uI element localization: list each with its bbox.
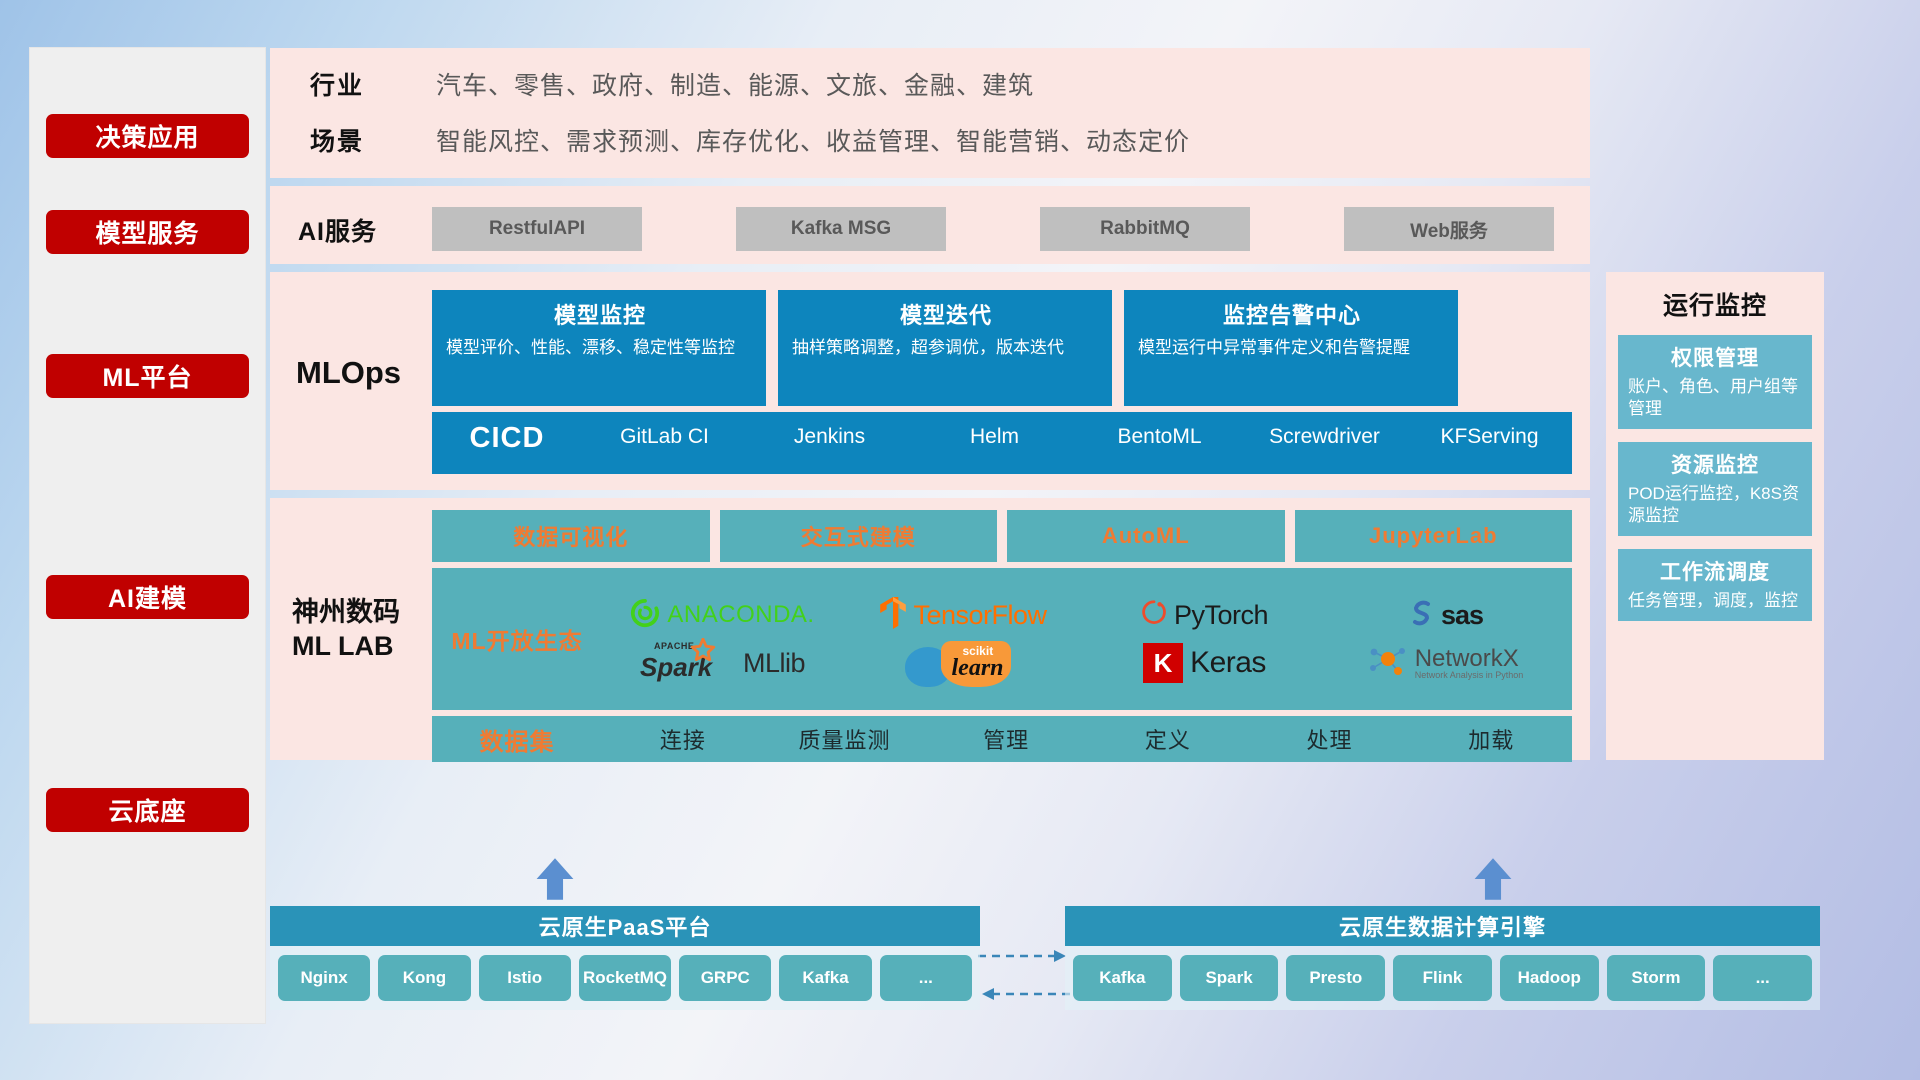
dataset-item[interactable]: 质量监测 [764,723,926,755]
paas-chip[interactable]: Istio [479,955,571,1001]
engine-title: 云原生数据计算引擎 [1065,906,1820,946]
keras-wordmark: Keras [1190,646,1266,680]
mlops-card-list: 模型监控 模型评价、性能、漂移、稳定性等监控 模型迭代 抽样策略调整，超参调优，… [432,290,1458,406]
rail-item-ai-modeling[interactable]: AI建模 [46,575,249,619]
scikit-learn-icon: scikit learn [905,639,1023,687]
networkx-logo: NetworkX Network Analysis in Python [1368,644,1524,683]
anaconda-logo: ANACONDA. [630,598,814,633]
ml-lab-label: 神州数码 ML LAB [292,595,432,663]
networkx-tagline: Network Analysis in Python [1415,671,1524,680]
engine-chip[interactable]: Spark [1180,955,1279,1001]
spark-mllib-logo: APACHE Spark MLlib [640,646,805,680]
monitor-card[interactable]: 权限管理 账户、角色、用户组等管理 [1618,335,1812,429]
industry-label: 行业 [310,66,364,102]
dataset-item[interactable]: 定义 [1087,723,1249,755]
ml-lab-tab-list: 数据可视化 交互式建模 AutoML JupyterLab [432,510,1572,562]
mlops-card-desc: 抽样策略调整，超参调优，版本迭代 [792,337,1100,359]
mlops-card-title: 模型监控 [446,298,754,330]
bidirectional-link-icon [976,942,1072,1010]
keras-icon: K [1143,643,1183,683]
dataset-item[interactable]: 加载 [1410,723,1572,755]
cicd-item[interactable]: Jenkins [747,422,912,450]
networkx-icon [1368,644,1408,683]
scenario-label: 场景 [310,122,364,158]
networkx-wordmark-block: NetworkX Network Analysis in Python [1415,646,1524,681]
cicd-item[interactable]: BentoML [1077,422,1242,450]
engine-chip[interactable]: Hadoop [1500,955,1599,1001]
engine-chip-list: Kafka Spark Presto Flink Hadoop Storm ..… [1065,946,1820,1010]
ml-lab-label-line2: ML LAB [292,629,432,663]
ml-lab-label-line1: 神州数码 [292,595,432,629]
pytorch-wordmark: PyTorch [1174,600,1268,631]
keras-mark-letter: K [1154,648,1173,679]
service-box[interactable]: Kafka MSG [736,207,946,251]
scikit-learn-logo: scikit learn [905,639,1023,687]
rail-label: 决策应用 [95,118,199,154]
networkx-wordmark: NetworkX [1415,646,1524,671]
up-arrow-icon [532,856,578,902]
tab-data-visualization[interactable]: 数据可视化 [432,510,710,562]
mlops-card-desc: 模型运行中异常事件定义和告警提醒 [1138,337,1446,359]
tensorflow-icon [880,597,906,634]
pytorch-logo: PyTorch [1141,598,1268,633]
up-arrow-icon [1470,856,1516,902]
dataset-item[interactable]: 连接 [602,723,764,755]
rail-item-model-service[interactable]: 模型服务 [46,210,249,254]
mlops-card[interactable]: 模型迭代 抽样策略调整，超参调优，版本迭代 [778,290,1112,406]
tensorflow-logo: TensorFlow [880,597,1046,634]
pytorch-icon [1141,598,1167,633]
paas-chip-list: Nginx Kong Istio RocketMQ GRPC Kafka ... [270,946,980,1010]
mlops-card[interactable]: 模型监控 模型评价、性能、漂移、稳定性等监控 [432,290,766,406]
mlops-card-title: 监控告警中心 [1138,298,1446,330]
monitor-card-title: 工作流调度 [1628,556,1802,586]
tab-interactive-modeling[interactable]: 交互式建模 [720,510,998,562]
monitor-card[interactable]: 工作流调度 任务管理，调度，监控 [1618,549,1812,621]
engine-chip[interactable]: Flink [1393,955,1492,1001]
layer-rail: 决策应用 模型服务 ML平台 AI建模 云底座 [30,48,265,1023]
tab-automl[interactable]: AutoML [1007,510,1285,562]
monitor-card-title: 资源监控 [1628,449,1802,479]
engine-chip[interactable]: Kafka [1073,955,1172,1001]
rail-item-decision-apps[interactable]: 决策应用 [46,114,249,158]
sas-logo: sas [1408,598,1483,633]
cloud-native-compute-engine-stack: 云原生数据计算引擎 Kafka Spark Presto Flink Hadoo… [1065,906,1820,1010]
ml-ecosystem-label: ML开放生态 [432,622,602,656]
engine-chip[interactable]: ... [1713,955,1812,1001]
sas-wordmark: sas [1441,600,1483,631]
monitor-card-desc: 任务管理，调度，监控 [1628,590,1802,612]
rail-label: 云底座 [108,792,186,828]
anaconda-wordmark: ANACONDA. [667,601,814,629]
paas-chip[interactable]: RocketMQ [579,955,671,1001]
ml-logo-grid: ANACONDA. TensorFlow PyTorch [602,591,1572,687]
service-box[interactable]: RabbitMQ [1040,207,1250,251]
learn-text: learn [952,655,1004,682]
tab-jupyterlab[interactable]: JupyterLab [1295,510,1573,562]
cicd-bar: CICD GitLab CI Jenkins Helm BentoML Scre… [432,412,1572,474]
anaconda-icon [630,598,660,633]
industry-value: 汽车、零售、政府、制造、能源、文旅、金融、建筑 [436,66,1034,102]
spark-icon: APACHE Spark [640,646,736,680]
engine-chip[interactable]: Presto [1286,955,1385,1001]
runtime-monitoring-title: 运行监控 [1606,272,1824,322]
rail-label: ML平台 [102,358,192,394]
mllib-wordmark: MLlib [743,648,805,679]
ai-services-list: RestfulAPI Kafka MSG RabbitMQ Web服务 [432,207,1572,251]
cicd-item[interactable]: Helm [912,422,1077,450]
keras-logo: K Keras [1143,643,1266,683]
mlops-label: MLOps [296,355,401,391]
rail-item-ml-platform[interactable]: ML平台 [46,354,249,398]
service-box[interactable]: RestfulAPI [432,207,642,251]
ml-ecosystem-box: ML开放生态 ANACONDA. TensorFlow [432,568,1572,710]
monitor-card-desc: 账户、角色、用户组等管理 [1628,376,1802,420]
mlops-card-desc: 模型评价、性能、漂移、稳定性等监控 [446,337,754,359]
cicd-item[interactable]: GitLab CI [582,422,747,450]
rail-item-cloud-base[interactable]: 云底座 [46,788,249,832]
scenario-value: 智能风控、需求预测、库存优化、收益管理、智能营销、动态定价 [436,122,1190,158]
dataset-bar: 数据集 连接 质量监测 管理 定义 处理 加载 [432,716,1572,762]
paas-title: 云原生PaaS平台 [270,906,980,946]
monitor-card-desc: POD运行监控，K8S资源监控 [1628,483,1802,527]
dataset-item[interactable]: 管理 [925,723,1087,755]
paas-chip[interactable]: Kong [378,955,470,1001]
cicd-item[interactable]: Screwdriver [1242,422,1407,450]
ai-services-label: AI服务 [298,212,377,248]
service-box[interactable]: Web服务 [1344,207,1554,251]
tensorflow-wordmark: TensorFlow [913,600,1046,631]
cloud-native-paas-stack: 云原生PaaS平台 Nginx Kong Istio RocketMQ GRPC… [270,906,980,1010]
monitor-card[interactable]: 资源监控 POD运行监控，K8S资源监控 [1618,442,1812,536]
monitor-card-title: 权限管理 [1628,342,1802,372]
engine-chip[interactable]: Storm [1607,955,1706,1001]
paas-chip[interactable]: Kafka [779,955,871,1001]
paas-chip[interactable]: GRPC [679,955,771,1001]
rail-label: 模型服务 [95,214,199,250]
architecture-board: 行业 汽车、零售、政府、制造、能源、文旅、金融、建筑 场景 智能风控、需求预测、… [270,0,1920,1080]
paas-chip[interactable]: Nginx [278,955,370,1001]
cicd-title: CICD [432,422,582,455]
mlops-card-title: 模型迭代 [792,298,1100,330]
runtime-monitoring-column: 运行监控 权限管理 账户、角色、用户组等管理 资源监控 POD运行监控，K8S资… [1606,272,1824,760]
dataset-item[interactable]: 处理 [1249,723,1411,755]
spark-apache-text: APACHE [654,641,694,651]
sas-icon [1408,598,1434,633]
dataset-title: 数据集 [432,722,602,757]
paas-chip[interactable]: ... [880,955,972,1001]
cicd-item[interactable]: KFServing [1407,422,1572,450]
rail-label: AI建模 [108,579,187,615]
mlops-card[interactable]: 监控告警中心 模型运行中异常事件定义和告警提醒 [1124,290,1458,406]
